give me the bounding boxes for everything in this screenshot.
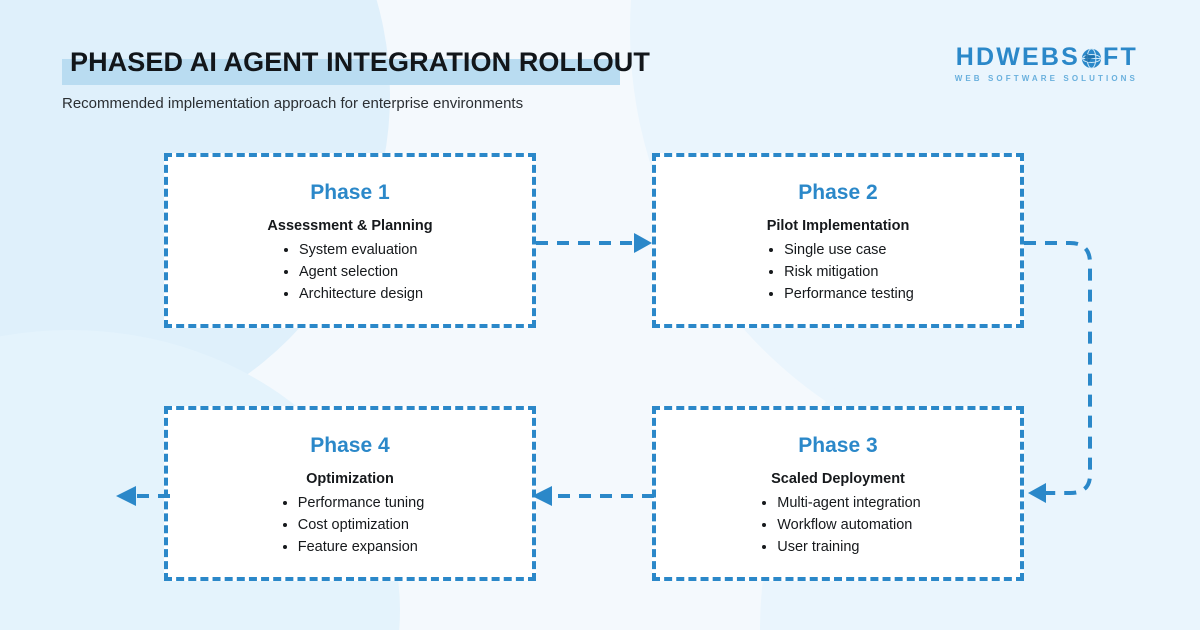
phase-subtitle: Assessment & Planning <box>267 217 432 235</box>
list-item: User training <box>777 536 920 558</box>
phase-box-3[interactable]: Phase 3 Scaled Deployment Multi-agent in… <box>652 406 1024 581</box>
phase-title: Phase 4 <box>310 433 389 459</box>
list-item: Workflow automation <box>777 514 920 536</box>
list-item: System evaluation <box>299 239 423 261</box>
arrow-phase1-to-phase2 <box>536 228 656 258</box>
list-item: Multi-agent integration <box>777 492 920 514</box>
phase-item-list: System evaluation Agent selection Archit… <box>277 239 423 305</box>
phase-subtitle: Optimization <box>306 470 394 488</box>
phase-box-4[interactable]: Phase 4 Optimization Performance tuning … <box>164 406 536 581</box>
phase-box-2[interactable]: Phase 2 Pilot Implementation Single use … <box>652 153 1024 328</box>
list-item: Cost optimization <box>298 514 425 536</box>
phase-subtitle: Scaled Deployment <box>771 470 905 488</box>
list-item: Risk mitigation <box>784 261 914 283</box>
phase-title: Phase 3 <box>798 433 877 459</box>
list-item: Performance testing <box>784 283 914 305</box>
phase-item-list: Single use case Risk mitigation Performa… <box>762 239 914 305</box>
arrow-phase3-to-phase4 <box>528 481 654 511</box>
phase-box-1[interactable]: Phase 1 Assessment & Planning System eva… <box>164 153 536 328</box>
arrow-phase2-to-phase3 <box>1024 225 1120 505</box>
phase-flow-diagram: Phase 1 Assessment & Planning System eva… <box>0 0 1200 630</box>
list-item: Performance tuning <box>298 492 425 514</box>
phase-subtitle: Pilot Implementation <box>767 217 910 235</box>
phase-item-list: Performance tuning Cost optimization Fea… <box>276 492 425 558</box>
phase-title: Phase 1 <box>310 180 389 206</box>
list-item: Single use case <box>784 239 914 261</box>
list-item: Architecture design <box>299 283 423 305</box>
list-item: Agent selection <box>299 261 423 283</box>
list-item: Feature expansion <box>298 536 425 558</box>
phase-title: Phase 2 <box>798 180 877 206</box>
phase-item-list: Multi-agent integration Workflow automat… <box>755 492 920 558</box>
arrow-phase4-exit <box>112 481 170 511</box>
